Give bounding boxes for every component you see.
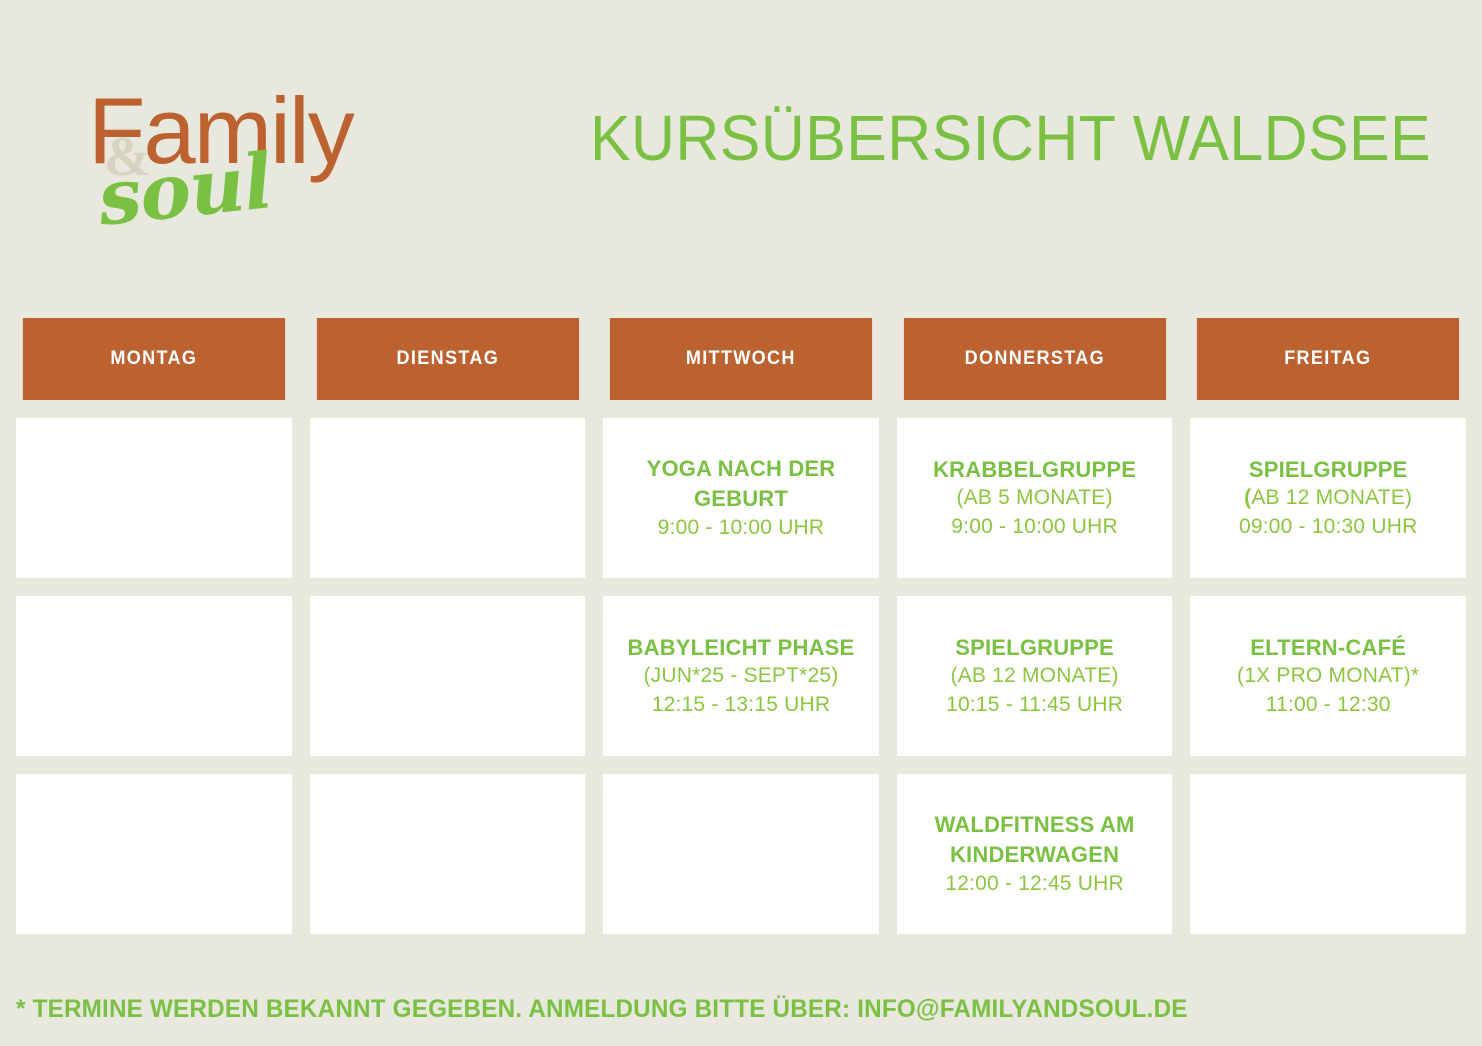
course-time: 11:00 - 12:30 (1266, 691, 1391, 720)
page-title: KURSÜBERSICHT WALDSEE (590, 106, 1431, 170)
course-cell-empty (603, 774, 879, 934)
course-time: 12:00 - 12:45 UHR (945, 870, 1124, 899)
course-time: 9:00 - 10:00 UHR (951, 513, 1118, 542)
course-title: SPIELGRUPPE (1249, 455, 1408, 485)
course-time: 12:15 - 13:15 UHR (652, 691, 831, 720)
course-title: ELTERN-CAFÉ (1250, 633, 1406, 663)
course-subtitle: (1X PRO MONAT)* (1237, 662, 1419, 691)
course-cell-empty (16, 774, 292, 934)
course-cell-empty (310, 774, 586, 934)
course-cell[interactable]: SPIELGRUPPE(AB 12 MONATE)10:15 - 11:45 U… (897, 596, 1173, 756)
course-schedule-grid: MONTAGDIENSTAGMITTWOCHDONNERSTAGFREITAGY… (16, 318, 1466, 934)
brand-logo: & Family soul (88, 84, 418, 244)
course-title: WALDFITNESS AM KINDERWAGEN (909, 810, 1161, 870)
course-time: 09:00 - 10:30 UHR (1239, 513, 1418, 542)
course-cell-empty (310, 596, 586, 756)
course-cell[interactable]: WALDFITNESS AM KINDERWAGEN12:00 - 12:45 … (897, 774, 1173, 934)
course-subtitle: (JUN*25 - SEPT*25) (643, 662, 838, 691)
course-cell-empty (16, 596, 292, 756)
course-cell[interactable]: KRABBELGRUPPE(AB 5 MONATE)9:00 - 10:00 U… (897, 418, 1173, 578)
day-header-2: DIENSTAG (316, 318, 578, 400)
page-header: & Family soul KURSÜBERSICHT WALDSEE (0, 0, 1482, 300)
footnote-text: * TERMINE WERDEN BEKANNT GEGEBEN. ANMELD… (16, 995, 1188, 1024)
logo-wordmark-soul: soul (95, 143, 276, 237)
course-cell-empty (310, 418, 586, 578)
course-cell-empty (16, 418, 292, 578)
course-time: 9:00 - 10:00 UHR (658, 514, 825, 543)
course-title: SPIELGRUPPE (955, 633, 1114, 663)
course-subtitle: (AB 12 MONATE) (1244, 484, 1412, 513)
course-subtitle: (AB 5 MONATE) (956, 484, 1112, 513)
course-title: BABYLEICHT PHASE (628, 633, 855, 663)
course-cell[interactable]: SPIELGRUPPE(AB 12 MONATE)09:00 - 10:30 U… (1190, 418, 1466, 578)
course-title: YOGA NACH DER GEBURT (615, 454, 867, 514)
day-header-5: FREITAG (1197, 318, 1459, 400)
course-cell[interactable]: YOGA NACH DER GEBURT9:00 - 10:00 UHR (603, 418, 879, 578)
day-header-3: MITTWOCH (610, 318, 872, 400)
course-cell-empty (1190, 774, 1466, 934)
day-header-1: MONTAG (23, 318, 285, 400)
course-cell[interactable]: BABYLEICHT PHASE(JUN*25 - SEPT*25)12:15 … (603, 596, 879, 756)
day-header-4: DONNERSTAG (904, 318, 1166, 400)
course-subtitle-rest: AB 12 MONATE) (1251, 486, 1412, 509)
course-cell[interactable]: ELTERN-CAFÉ(1X PRO MONAT)*11:00 - 12:30 (1190, 596, 1466, 756)
course-subtitle: (AB 12 MONATE) (951, 662, 1119, 691)
course-title: KRABBELGRUPPE (933, 455, 1136, 485)
course-time: 10:15 - 11:45 UHR (946, 691, 1123, 720)
